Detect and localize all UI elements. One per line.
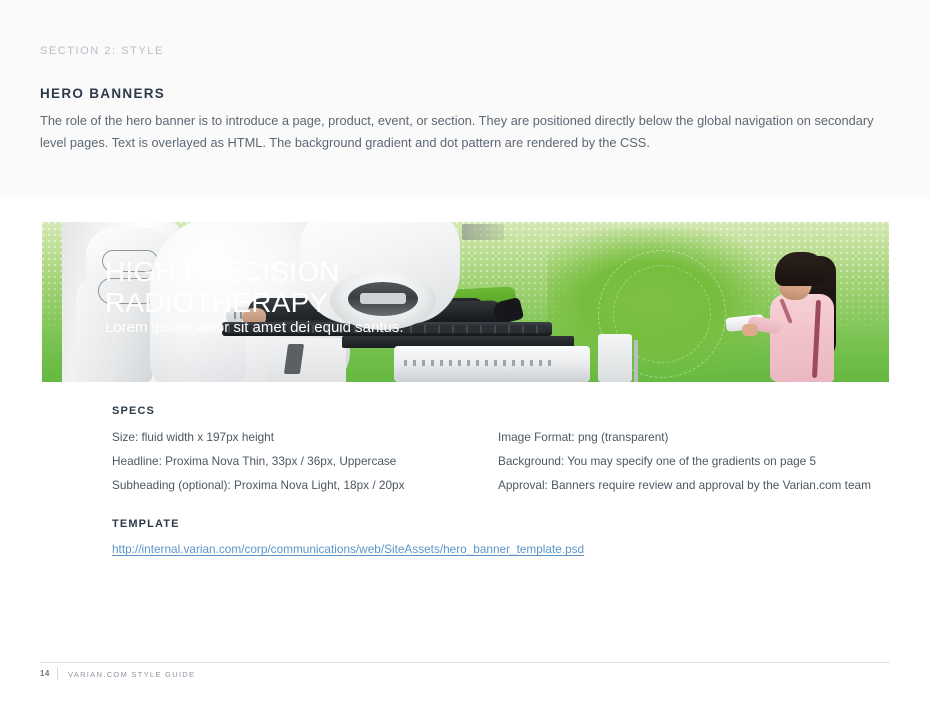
linac-head-aperture bbox=[348, 282, 418, 316]
footer-guide-label: VARIAN.COM STYLE GUIDE bbox=[68, 670, 195, 679]
spec-item-headline: Headline: Proxima Nova Thin, 33px / 36px… bbox=[112, 454, 396, 468]
banner-headline-line-2: RADIOTHERAPY bbox=[105, 287, 340, 318]
varian-machine-logo bbox=[462, 224, 504, 240]
nurse-hand bbox=[742, 324, 758, 336]
section-description: The role of the hero banner is to introd… bbox=[40, 110, 895, 153]
template-heading: TEMPLATE bbox=[112, 518, 180, 530]
style-guide-page: SECTION 2: STYLE HERO BANNERS The role o… bbox=[0, 0, 930, 719]
banner-headline-line-1: HIGH PRECISION bbox=[105, 256, 340, 287]
footer-separator bbox=[57, 667, 58, 680]
accessory-pole bbox=[634, 340, 638, 382]
accessory-stand bbox=[598, 334, 632, 382]
couch-side-arm bbox=[194, 330, 246, 382]
section-eyebrow: SECTION 2: STYLE bbox=[40, 45, 164, 57]
banner-headline: HIGH PRECISION RADIOTHERAPY bbox=[105, 256, 340, 318]
nurse-scrubs bbox=[770, 294, 834, 382]
footer-divider-rule bbox=[40, 662, 890, 663]
footer-page-number: 14 bbox=[40, 669, 50, 678]
specs-heading: SPECS bbox=[112, 405, 155, 417]
page-title: HERO BANNERS bbox=[40, 86, 165, 101]
nurse-hair-top bbox=[775, 252, 827, 286]
spec-item-subheading: Subheading (optional): Proxima Nova Ligh… bbox=[112, 478, 404, 492]
spec-item-approval: Approval: Banners require review and app… bbox=[498, 478, 871, 492]
spec-item-image-format: Image Format: png (transparent) bbox=[498, 430, 668, 444]
spec-item-size: Size: fluid width x 197px height bbox=[112, 430, 274, 444]
banner-subheading: Lorem ipsum dolor sit amet dei equid san… bbox=[105, 319, 403, 336]
hero-banner-example: HIGH PRECISION RADIOTHERAPY Lorem ipsum … bbox=[42, 222, 889, 382]
template-download-link[interactable]: http://internal.varian.com/corp/communic… bbox=[112, 542, 584, 556]
spec-item-background: Background: You may specify one of the g… bbox=[498, 454, 816, 468]
treatment-couch-base bbox=[394, 346, 590, 382]
couch-pedestal bbox=[268, 338, 346, 382]
